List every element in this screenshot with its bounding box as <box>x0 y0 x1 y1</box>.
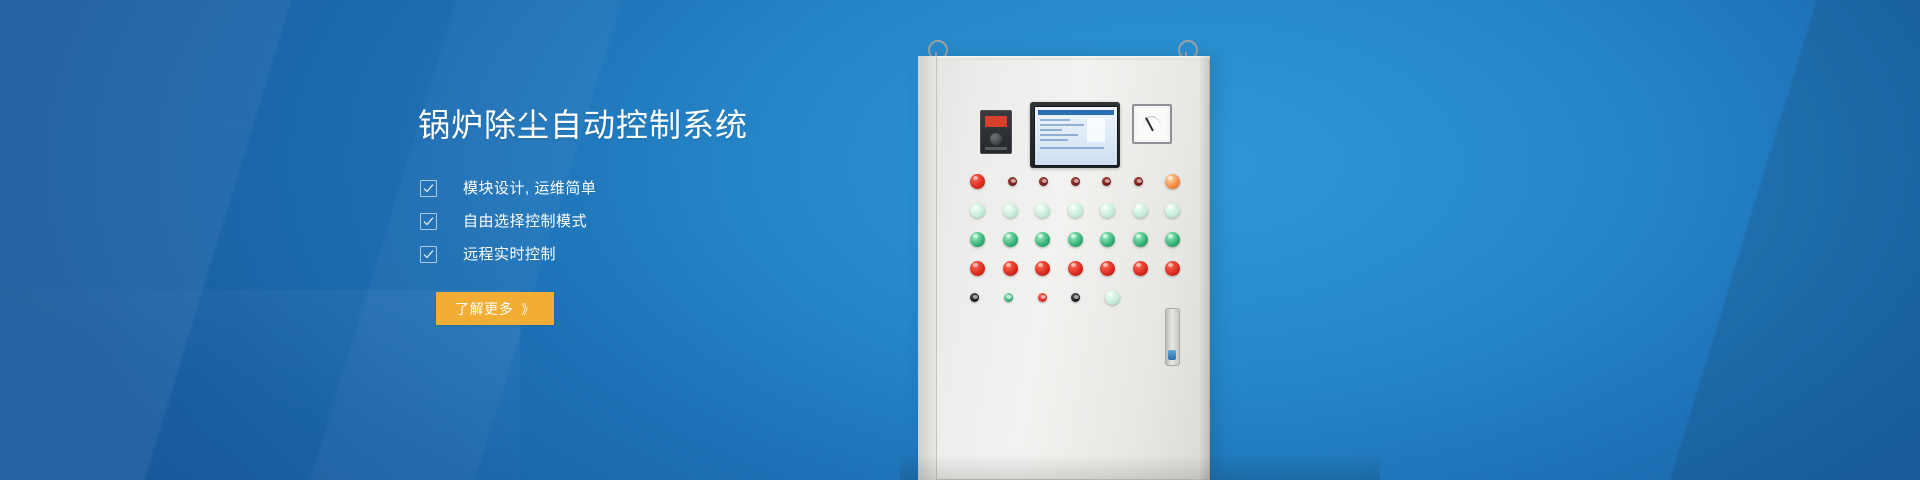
indicator-lamp-red[interactable] <box>1100 261 1115 276</box>
indicator-lamp-green[interactable] <box>1003 232 1018 247</box>
hmi-title-bar <box>1038 110 1114 115</box>
indicator-lamp-light-green[interactable] <box>970 203 985 218</box>
indicator-lamp-light-green[interactable] <box>1133 203 1148 218</box>
hmi-line <box>1040 124 1084 126</box>
feature-label: 自由选择控制模式 <box>463 212 587 232</box>
lamp-row <box>970 290 1120 305</box>
lamp-row <box>970 232 1180 247</box>
analog-meter <box>1132 104 1172 144</box>
indicator-lamp-red[interactable] <box>970 174 985 189</box>
feature-label: 远程实时控制 <box>463 245 556 265</box>
hmi-touch-panel <box>1030 102 1120 168</box>
door-lock-icon <box>1168 350 1176 360</box>
product-photo <box>900 0 1380 480</box>
digital-controller <box>980 110 1012 154</box>
indicator-lamp-green[interactable] <box>1004 293 1013 302</box>
indicator-lamp-orange[interactable] <box>1165 174 1180 189</box>
lamp-row <box>970 174 1180 189</box>
lamp-row <box>970 203 1180 218</box>
list-item: 自由选择控制模式 <box>418 205 888 238</box>
feature-label: 模块设计, 运维简单 <box>463 179 596 199</box>
hmi-line <box>1040 134 1078 136</box>
hmi-screen <box>1034 106 1118 166</box>
indicator-lamp-light-green[interactable] <box>1003 203 1018 218</box>
indicator-lamp-green[interactable] <box>1165 232 1180 247</box>
indicator-lamp-red[interactable] <box>1038 293 1047 302</box>
indicator-lamp-green[interactable] <box>1035 232 1050 247</box>
feature-list: 模块设计, 运维简单 自由选择控制模式 远程实时控制 <box>418 172 888 271</box>
hmi-line <box>1040 119 1070 121</box>
indicator-lamp-black[interactable] <box>970 293 979 302</box>
indicator-lamp-green[interactable] <box>970 232 985 247</box>
checkbox-check-icon <box>420 180 437 197</box>
indicator-lamp-light-green[interactable] <box>1165 203 1180 218</box>
indicator-lamp-red[interactable] <box>1035 261 1050 276</box>
list-item: 模块设计, 运维简单 <box>418 172 888 205</box>
hmi-panel-block <box>1087 118 1105 142</box>
hmi-line <box>1040 139 1068 141</box>
list-item: 远程实时控制 <box>418 238 888 271</box>
meter-face <box>1137 109 1167 139</box>
indicator-lamp-red[interactable] <box>1133 261 1148 276</box>
indicator-lamp-light-green[interactable] <box>1105 290 1120 305</box>
learn-more-button[interactable]: 了解更多 》 <box>436 292 554 325</box>
indicator-lamp-dark-red[interactable] <box>1102 177 1111 186</box>
page-title: 锅炉除尘自动控制系统 <box>418 104 888 146</box>
cabinet-door-handle[interactable] <box>1165 308 1180 366</box>
indicator-lamp-black[interactable] <box>1071 293 1080 302</box>
checkbox-check-icon <box>420 246 437 263</box>
controller-knob-icon <box>990 133 1002 145</box>
indicator-lamp-dark-red[interactable] <box>1071 177 1080 186</box>
indicator-lamp-dark-red[interactable] <box>1039 177 1048 186</box>
indicator-lamp-light-green[interactable] <box>1035 203 1050 218</box>
chevron-right-icon: 》 <box>521 299 535 318</box>
hero-copy-block: 锅炉除尘自动控制系统 模块设计, 运维简单 自由选择控制模式 <box>418 104 888 325</box>
cabinet-right-edge <box>1200 56 1210 480</box>
indicator-lamp-red[interactable] <box>1165 261 1180 276</box>
indicator-lamp-dark-red[interactable] <box>1008 177 1017 186</box>
indicator-lamp-red[interactable] <box>1068 261 1083 276</box>
cabinet-top-edge <box>918 56 1210 60</box>
lamp-row <box>970 261 1180 276</box>
controller-label-strip <box>985 147 1007 150</box>
indicator-lamp-grid <box>970 174 1180 319</box>
indicator-lamp-dark-red[interactable] <box>1134 177 1143 186</box>
indicator-lamp-light-green[interactable] <box>1068 203 1083 218</box>
indicator-lamp-green[interactable] <box>1133 232 1148 247</box>
cabinet-hinge-strip <box>918 56 937 480</box>
indicator-lamp-red[interactable] <box>1003 261 1018 276</box>
hmi-line <box>1040 129 1062 131</box>
learn-more-label: 了解更多 <box>455 299 513 319</box>
checkbox-check-icon <box>420 213 437 230</box>
controller-display <box>985 116 1007 127</box>
indicator-lamp-light-green[interactable] <box>1100 203 1115 218</box>
indicator-lamp-green[interactable] <box>1068 232 1083 247</box>
hmi-line <box>1040 147 1104 149</box>
control-cabinet <box>918 56 1210 480</box>
indicator-lamp-green[interactable] <box>1100 232 1115 247</box>
photo-floor-shadow <box>900 454 1380 480</box>
indicator-lamp-red[interactable] <box>970 261 985 276</box>
hero-banner: 锅炉除尘自动控制系统 模块设计, 运维简单 自由选择控制模式 <box>0 0 1920 480</box>
